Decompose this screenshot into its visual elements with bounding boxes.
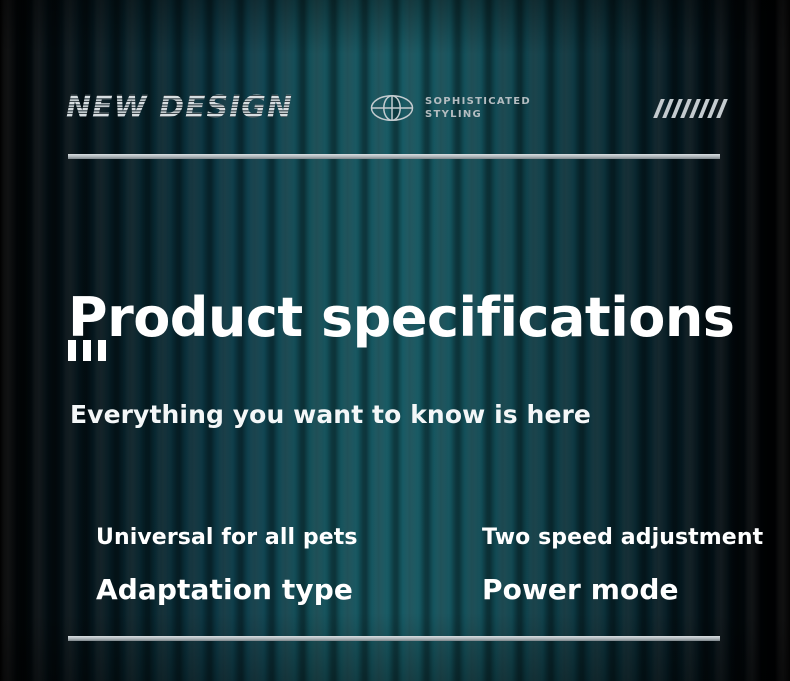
spec-name: Power mode <box>482 573 763 607</box>
spec-columns: Universal for all pets Adaptation type T… <box>0 524 790 624</box>
brand-text: SOPHISTICATED STYLING <box>425 95 531 121</box>
brand-line-1: SOPHISTICATED <box>425 95 531 108</box>
page-title: Product specifications <box>68 286 734 350</box>
spec-item-power-mode: Two speed adjustment Power mode <box>482 524 763 607</box>
accent-bar <box>98 340 106 361</box>
divider-top <box>68 154 720 159</box>
product-spec-banner: NEW DESIGN SOPHISTICATED STYLING <box>0 0 790 681</box>
brand-line-2: STYLING <box>425 108 531 121</box>
globe-icon <box>370 94 414 122</box>
spec-caption: Two speed adjustment <box>482 524 763 552</box>
spec-caption: Universal for all pets <box>96 524 358 552</box>
page-subtitle: Everything you want to know is here <box>70 400 591 429</box>
spec-name: Adaptation type <box>96 573 358 607</box>
slash-mark <box>716 99 728 118</box>
brand-lockup: SOPHISTICATED STYLING <box>370 94 531 122</box>
header-bar: NEW DESIGN SOPHISTICATED STYLING <box>0 90 790 142</box>
accent-bar <box>83 340 91 361</box>
title-accent-bars <box>68 340 106 361</box>
diagonal-slashes-decoration <box>657 99 724 118</box>
accent-bar <box>68 340 76 361</box>
spec-item-adaptation-type: Universal for all pets Adaptation type <box>96 524 358 607</box>
new-design-badge: NEW DESIGN <box>66 90 293 125</box>
divider-bottom <box>68 636 720 641</box>
